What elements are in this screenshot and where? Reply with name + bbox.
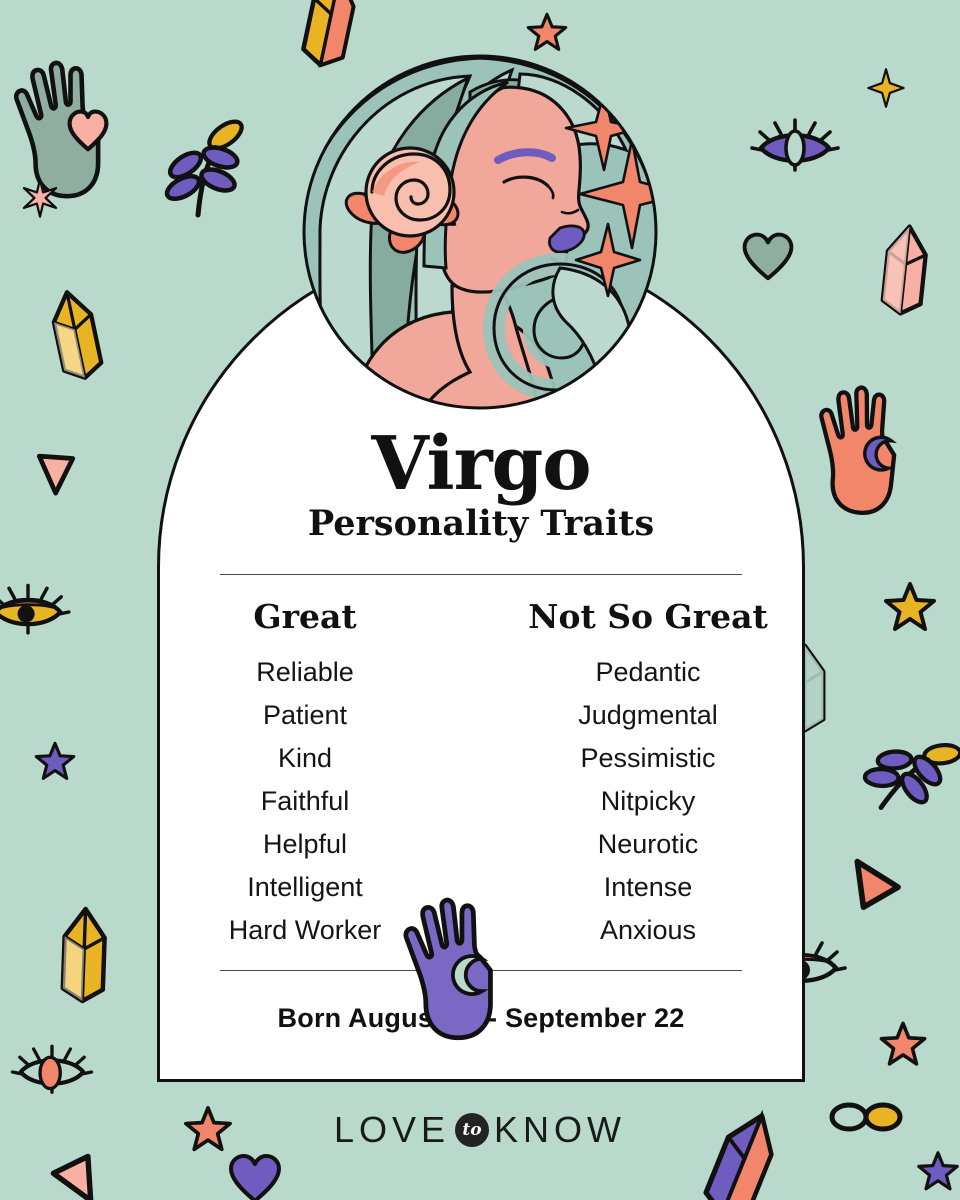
poster: Virgo Personality Traits Great Reliable …	[0, 0, 960, 1200]
hand-moon-icon	[0, 0, 960, 1200]
